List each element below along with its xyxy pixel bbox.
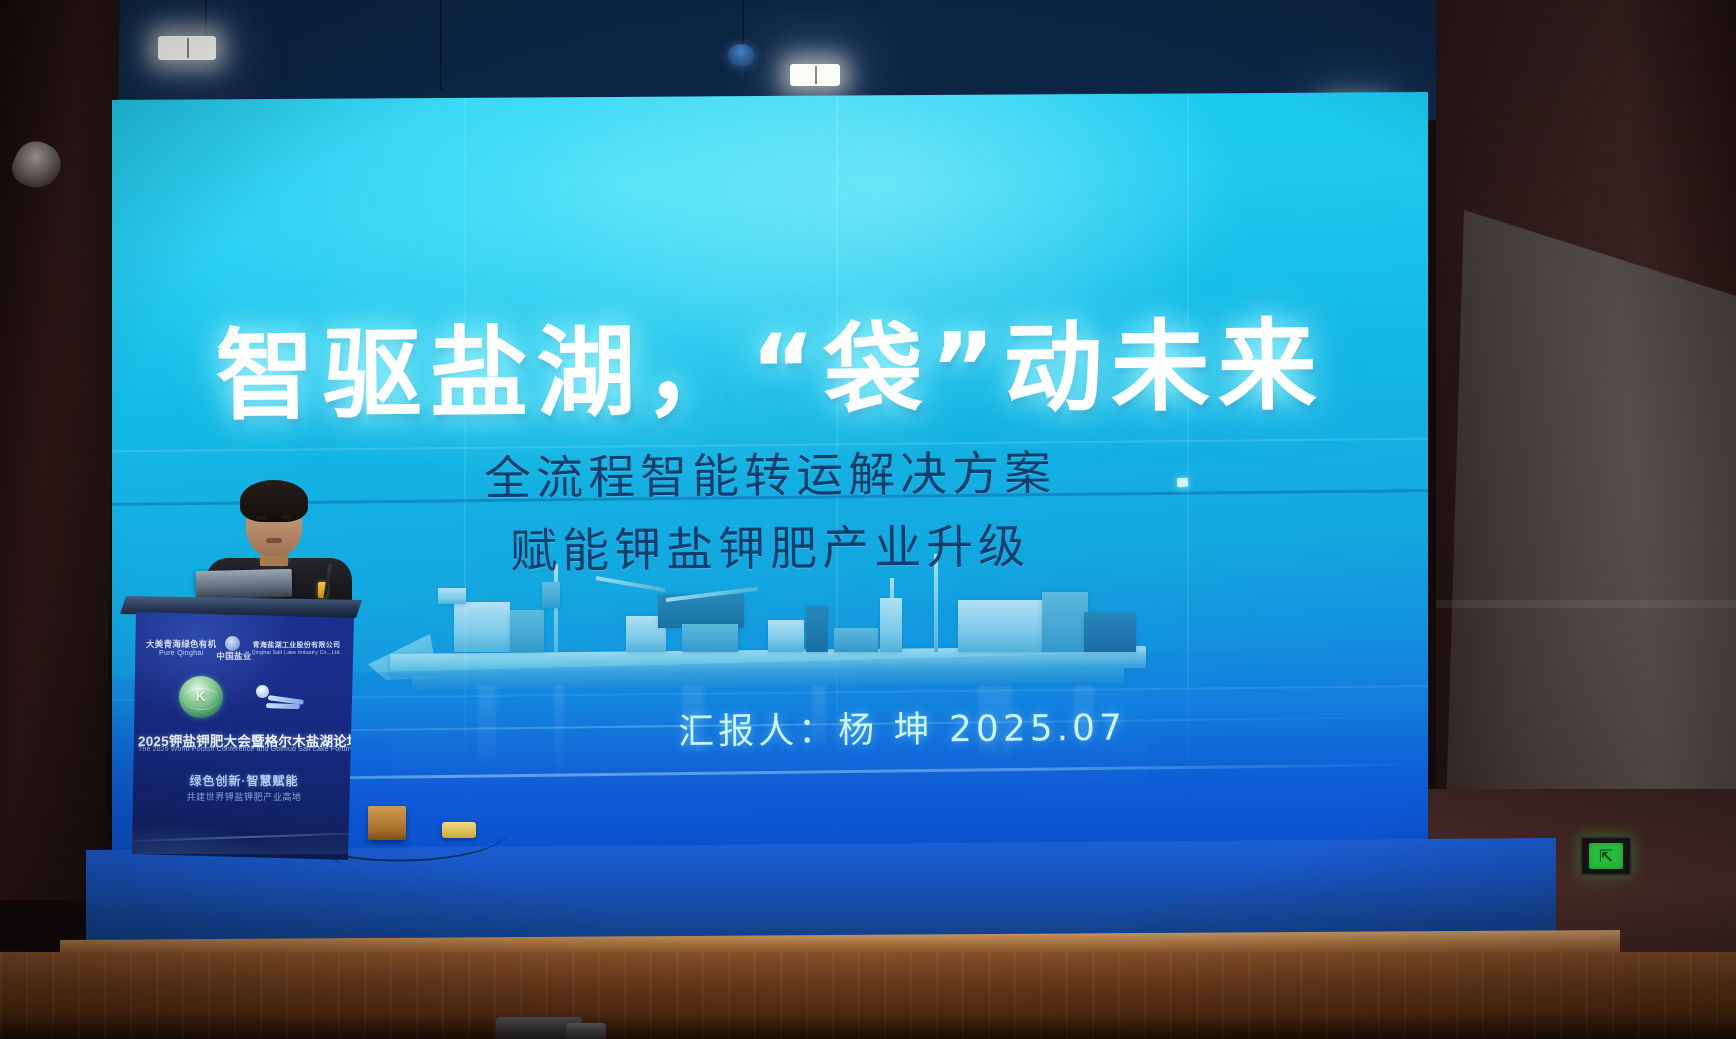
slide-title: 智驱盐湖，“袋”动未来 — [112, 284, 1428, 441]
barge-deckhouse — [958, 600, 1042, 652]
wall-left — [0, 0, 120, 900]
ceiling-rod — [440, 0, 442, 90]
logo-cnsg: 中国盐业 — [216, 636, 251, 662]
barge-deckhouse — [454, 602, 510, 652]
wall-right-trim — [1436, 600, 1736, 608]
barge-module — [1042, 592, 1088, 652]
presenter-eye — [256, 516, 267, 520]
presenter-mouth — [266, 538, 282, 543]
logo-pure-qinghai: 大美青海绿色有机 Pure Qinghai — [146, 639, 216, 658]
exit-sign-icon: ⇱ — [1589, 843, 1623, 869]
podium-laptop — [196, 569, 293, 599]
barge-module — [510, 610, 544, 652]
podium-emblem-row — [162, 672, 324, 722]
presenter-eye — [281, 515, 292, 519]
auditorium-scene: ⇱ — [0, 0, 1736, 1039]
wall-spotlight — [7, 135, 68, 196]
barge-module — [834, 628, 878, 652]
barge-module — [806, 606, 828, 652]
emergency-exit-sign: ⇱ — [1580, 836, 1632, 876]
logo-qinghai-salt-lake: 青海盐湖工业股份有限公司 Qinghai Salt Lake Industry … — [252, 642, 342, 657]
podium-banner-subtitle: The 2025 World Potash Conference and Gol… — [138, 746, 350, 753]
wall-right-panel — [1436, 210, 1736, 850]
ceiling-dome-fixture — [728, 44, 754, 66]
barge-module — [880, 598, 902, 652]
globe-potash-emblem-icon — [179, 676, 223, 718]
cnsg-seal-icon — [225, 636, 240, 651]
barge-module — [542, 582, 560, 608]
foreground-shadow — [0, 1014, 1736, 1039]
barge-module — [438, 588, 466, 604]
barge-module — [682, 624, 738, 652]
barge-module — [768, 620, 804, 652]
podium-slogan-line1: 绿色创新·智慧赋能 — [138, 772, 350, 789]
ceiling-rod — [742, 0, 744, 44]
podium-wave-graphic — [132, 792, 354, 854]
barge-stern-block — [1084, 612, 1136, 652]
podium-logo-row: 大美青海绿色有机 Pure Qinghai 中国盐业 青海盐湖工业股份有限公司 … — [146, 638, 340, 660]
wave-swoosh-emblem-icon — [256, 677, 308, 717]
presenter-text: 汇报人：杨 坤 2025.07 — [678, 699, 1126, 755]
ceiling-light-1 — [158, 36, 216, 60]
podium-banner: 大美青海绿色有机 Pure Qinghai 中国盐业 青海盐湖工业股份有限公司 … — [132, 612, 354, 860]
ceiling-light-2 — [790, 64, 840, 86]
presenter-hair — [240, 480, 308, 522]
